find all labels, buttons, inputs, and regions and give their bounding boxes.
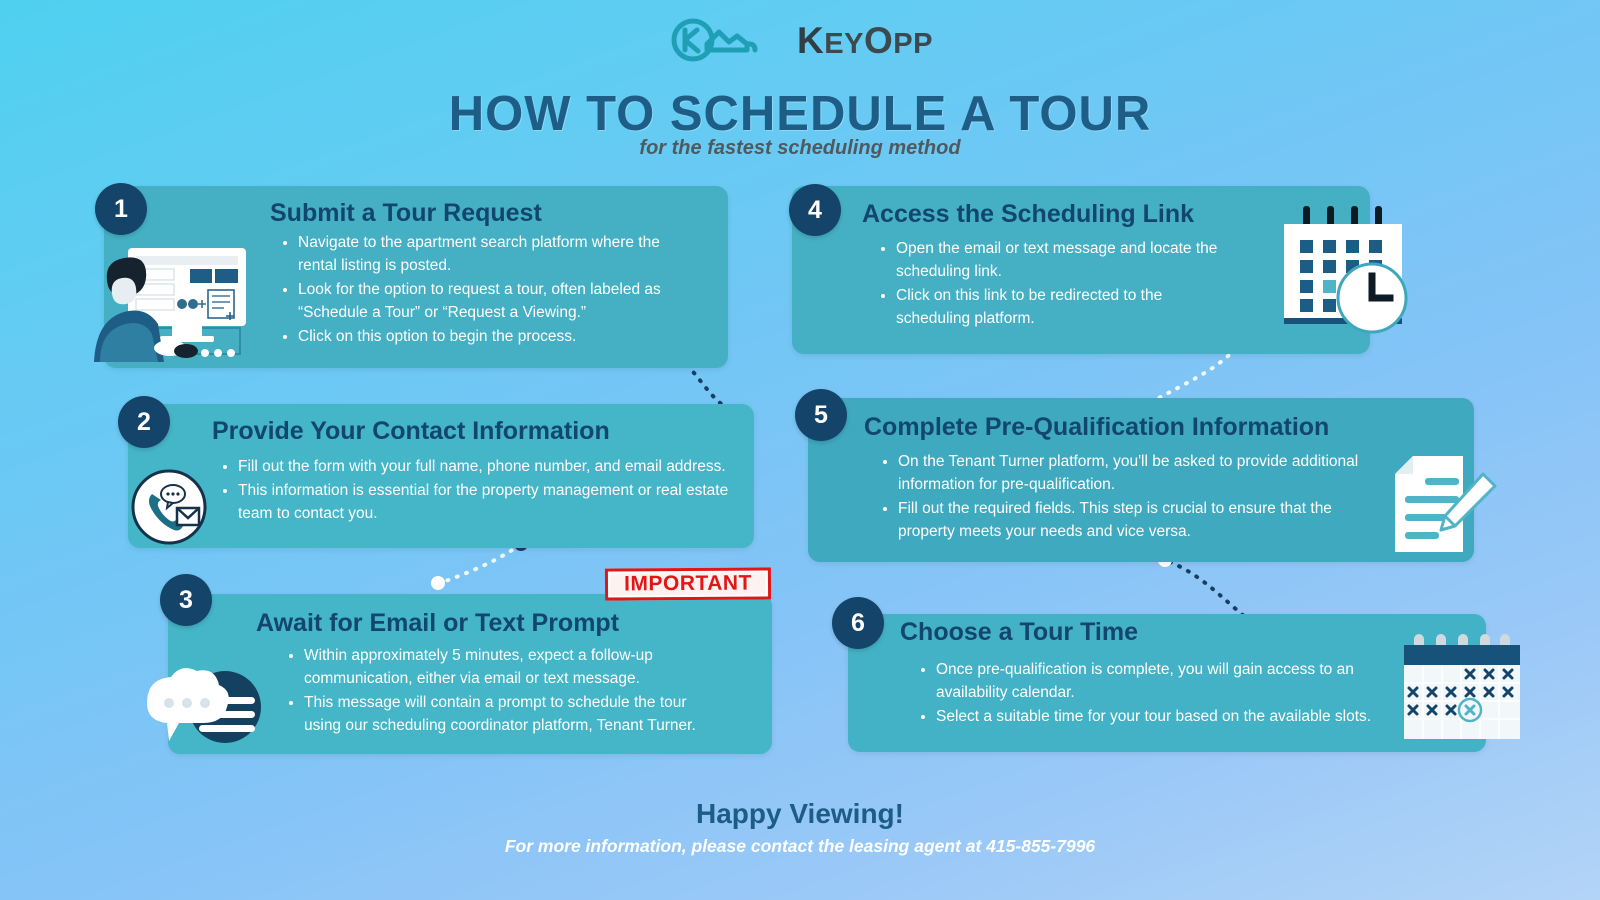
list-item: Click on this option to begin the proces…	[282, 326, 682, 349]
list-item: Once pre-qualification is complete, you …	[920, 659, 1390, 705]
step-bullets-1: Navigate to the apartment search platfor…	[282, 232, 682, 350]
footer-headline: Happy Viewing!	[0, 798, 1600, 830]
step-number-badge-1: 1	[95, 183, 147, 235]
step-number-badge-2: 2	[118, 396, 170, 448]
step-bullets-4: Open the email or text message and locat…	[880, 238, 1240, 332]
step-title-1: Submit a Tour Request	[270, 200, 542, 228]
document-pencil-icon	[1385, 452, 1497, 558]
phone-chat-email-icon	[130, 468, 208, 546]
step-title-6: Choose a Tour Time	[900, 619, 1138, 647]
brand-logo: KEYOPP	[0, 18, 1600, 62]
list-item: Navigate to the apartment search platfor…	[282, 232, 682, 278]
list-item: Select a suitable time for your tour bas…	[920, 706, 1390, 729]
chat-bubbles-icon	[133, 655, 269, 755]
step-number-badge-4: 4	[789, 184, 841, 236]
person-at-computer-illustration-icon	[78, 236, 258, 364]
list-item: On the Tenant Turner platform, you'll be…	[882, 451, 1382, 497]
step-bullets-6: Once pre-qualification is complete, you …	[920, 659, 1390, 730]
list-item: Fill out the form with your full name, p…	[222, 456, 740, 479]
step-bullets-5: On the Tenant Turner platform, you'll be…	[882, 451, 1382, 545]
brand-name-pp: PP	[893, 28, 933, 60]
brand-name: KEYOPP	[797, 22, 933, 59]
footer-contact: For more information, please contact the…	[0, 836, 1600, 857]
calendar-clock-icon	[1272, 198, 1414, 340]
page-title: HOW TO SCHEDULE A TOUR	[0, 86, 1600, 142]
brand-name-o: O	[864, 20, 893, 61]
list-item: This information is essential for the pr…	[222, 480, 740, 526]
important-stamp-badge: IMPORTANT	[605, 567, 771, 600]
list-item: Open the email or text message and locat…	[880, 238, 1240, 284]
brand-name-k: K	[797, 20, 824, 61]
step-number-badge-3: 3	[160, 574, 212, 626]
keyopp-key-house-logo-icon	[667, 18, 787, 62]
step-title-4: Access the Scheduling Link	[862, 201, 1194, 229]
step-title-5: Complete Pre-Qualification Information	[864, 414, 1329, 442]
list-item: Click on this link to be redirected to t…	[880, 285, 1240, 331]
list-item: This message will contain a prompt to sc…	[288, 692, 708, 738]
step-number-badge-5: 5	[795, 389, 847, 441]
list-item: Within approximately 5 minutes, expect a…	[288, 645, 708, 691]
step-number-badge-6: 6	[832, 597, 884, 649]
step-bullets-3: Within approximately 5 minutes, expect a…	[288, 645, 708, 739]
step-title-2: Provide Your Contact Information	[212, 418, 610, 446]
list-item: Fill out the required fields. This step …	[882, 498, 1382, 544]
step-bullets-2: Fill out the form with your full name, p…	[222, 456, 740, 527]
calendar-crossed-days-icon	[1400, 632, 1524, 744]
page-subtitle: for the fastest scheduling method	[0, 137, 1600, 160]
step-title-3: Await for Email or Text Prompt	[256, 610, 619, 638]
brand-name-ey: EY	[824, 28, 864, 60]
list-item: Look for the option to request a tour, o…	[282, 279, 682, 325]
